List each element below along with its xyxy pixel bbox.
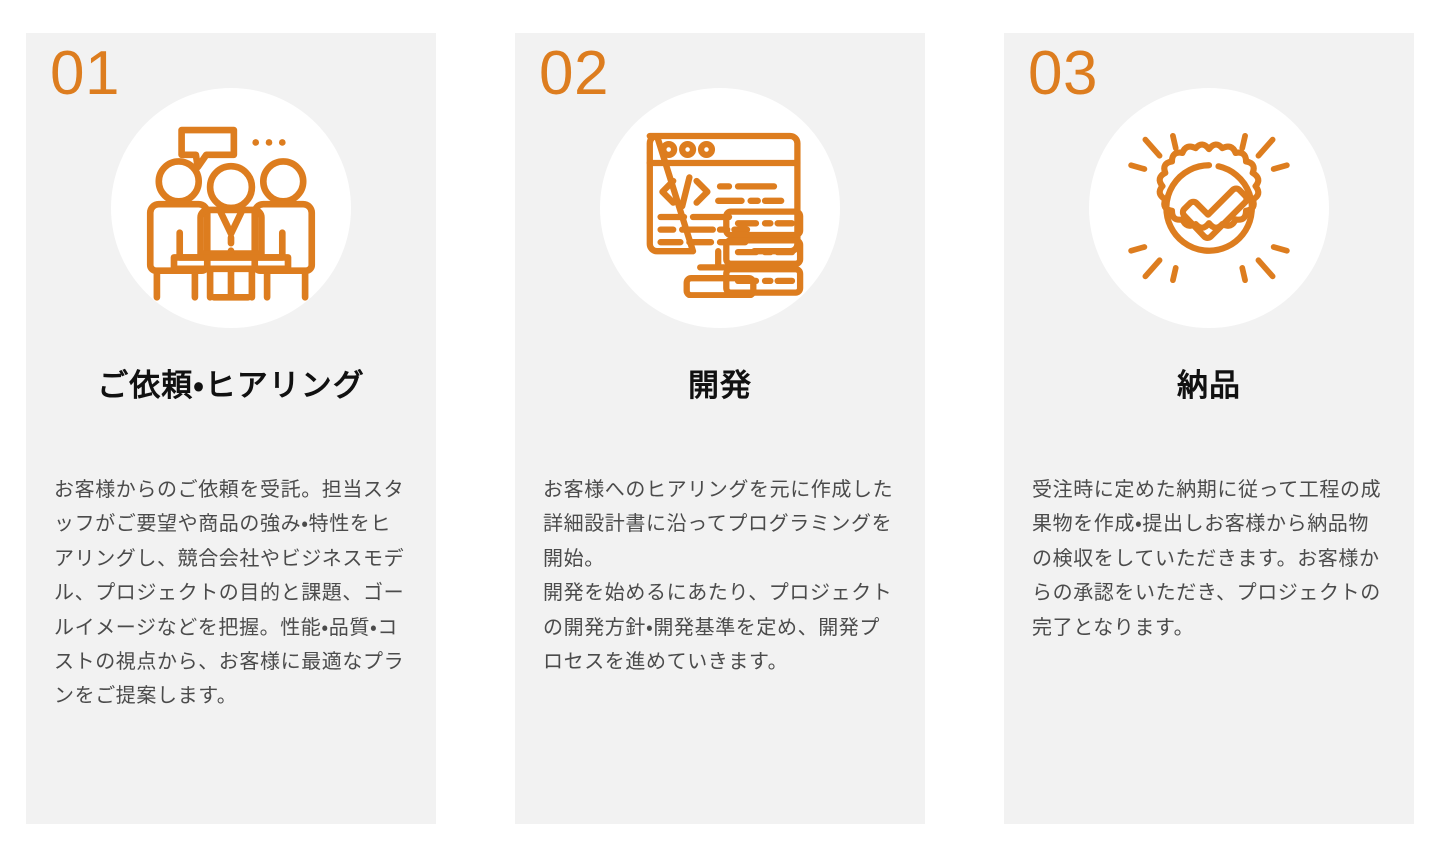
card-body-text: お客様へのヒアリングを元に作成した詳細設計書に沿ってプログラミングを開始。 開発… <box>515 473 925 679</box>
step-number: 02 <box>539 43 609 105</box>
verified-badge-check-icon <box>1089 88 1329 328</box>
card-title: 納品 <box>1004 366 1414 406</box>
code-monitor-server-icon <box>600 88 840 328</box>
card-body-text: お客様からのご依頼を受託。担当スタッフがご要望や商品の強み・特性をヒアリングし、… <box>26 473 436 714</box>
step-number: 03 <box>1028 43 1098 105</box>
flow-card-02: 02 <box>515 33 925 824</box>
flow-card-01: 01 <box>26 33 436 824</box>
step-number: 01 <box>50 43 120 105</box>
flow-steps-section: 01 <box>0 0 1440 866</box>
flow-cards-row: 01 <box>26 33 1414 824</box>
flow-card-03: 03 <box>1004 33 1414 824</box>
card-title: 開発 <box>515 366 925 406</box>
card-body-text: 受注時に定めた納期に従って工程の成果物を作成・提出しお客様から納品物の検収をして… <box>1004 473 1414 645</box>
meeting-people-icon <box>111 88 351 328</box>
card-title: ご依頼・ヒアリング <box>26 366 436 406</box>
